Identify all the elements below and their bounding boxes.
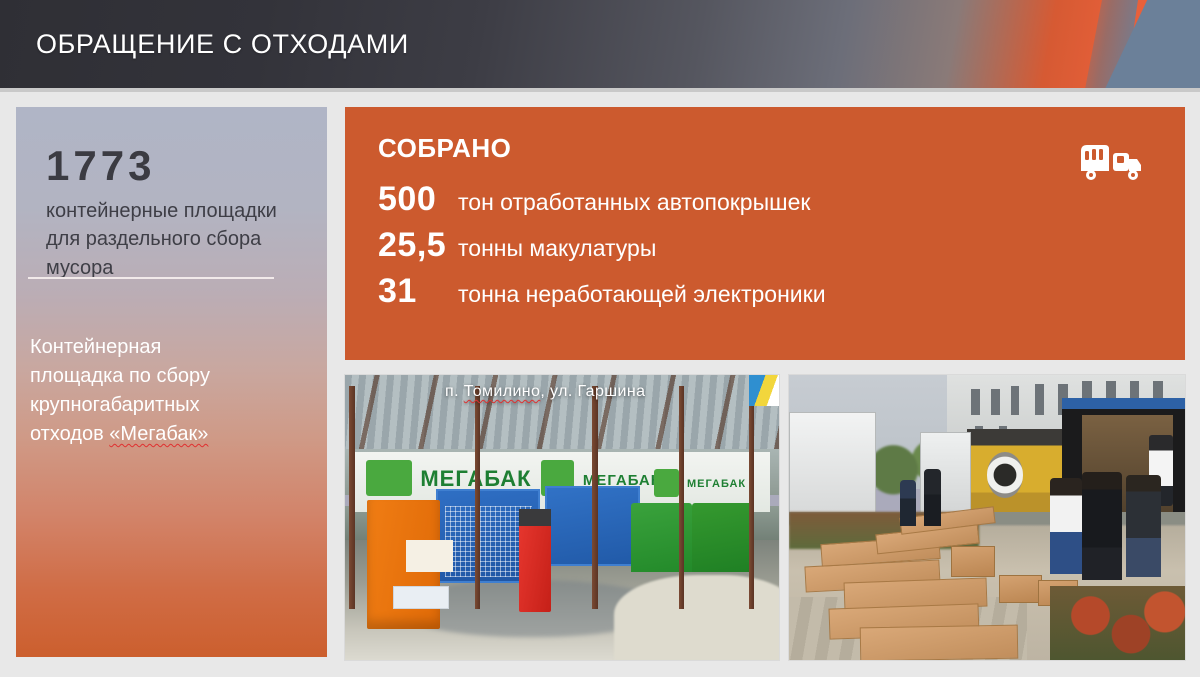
photo-location-caption: п. Томилино, ул. Гаршина [445,383,645,401]
collected-stats-title: СОБРАНО [378,133,1185,164]
container-count-value: 1773 [46,145,297,187]
megabak-caption-line4-prefix: отходов [30,423,109,445]
stat-label: тон отработанных автопокрышек [458,189,810,216]
header-underline [0,88,1200,92]
left-panel-divider [28,277,274,279]
container-count-description: контейнерные площадки для раздельного сб… [46,197,297,282]
stat-label: тонны макулатуры [458,235,656,262]
caption-prefix: п. [445,383,464,400]
megabak-caption-highlight: «Мегабак» [109,423,208,445]
stat-value: 25,5 [378,226,452,265]
megabak-caption-line3: крупногабаритных [30,394,200,416]
caption-place-name: Томилино [464,383,541,400]
garbage-truck-icon [1075,137,1147,185]
photo-recycling-station: МЕГАБАК МЕГАБАК МЕГАБАК п. Томилино, ул.… [345,375,779,660]
megabak-caption: Контейнерная площадка по сбору крупногаб… [30,333,292,449]
caption-suffix: , ул. Гаршина [540,383,645,400]
megabak-caption-line1: Контейнерная [30,336,161,358]
stat-row: 31 тонна неработающей электроники [378,272,1185,311]
megabak-caption-line2: площадка по сбору [30,365,210,387]
photo-cardboard-collection [789,375,1185,660]
stat-row: 500 тон отработанных автопокрышек [378,180,1185,219]
stat-label: тонна неработающей электроники [458,281,826,308]
collected-stats-panel: СОБРАНО 500 тон отработанных автопокрыше… [345,107,1185,360]
page-title: ОБРАЩЕНИЕ С ОТХОДАМИ [36,0,409,88]
banner-label-megabak-3: МЕГАБАК [687,478,746,490]
stat-value: 500 [378,180,452,219]
stat-row: 25,5 тонны макулатуры [378,226,1185,265]
stat-value: 31 [378,272,452,311]
